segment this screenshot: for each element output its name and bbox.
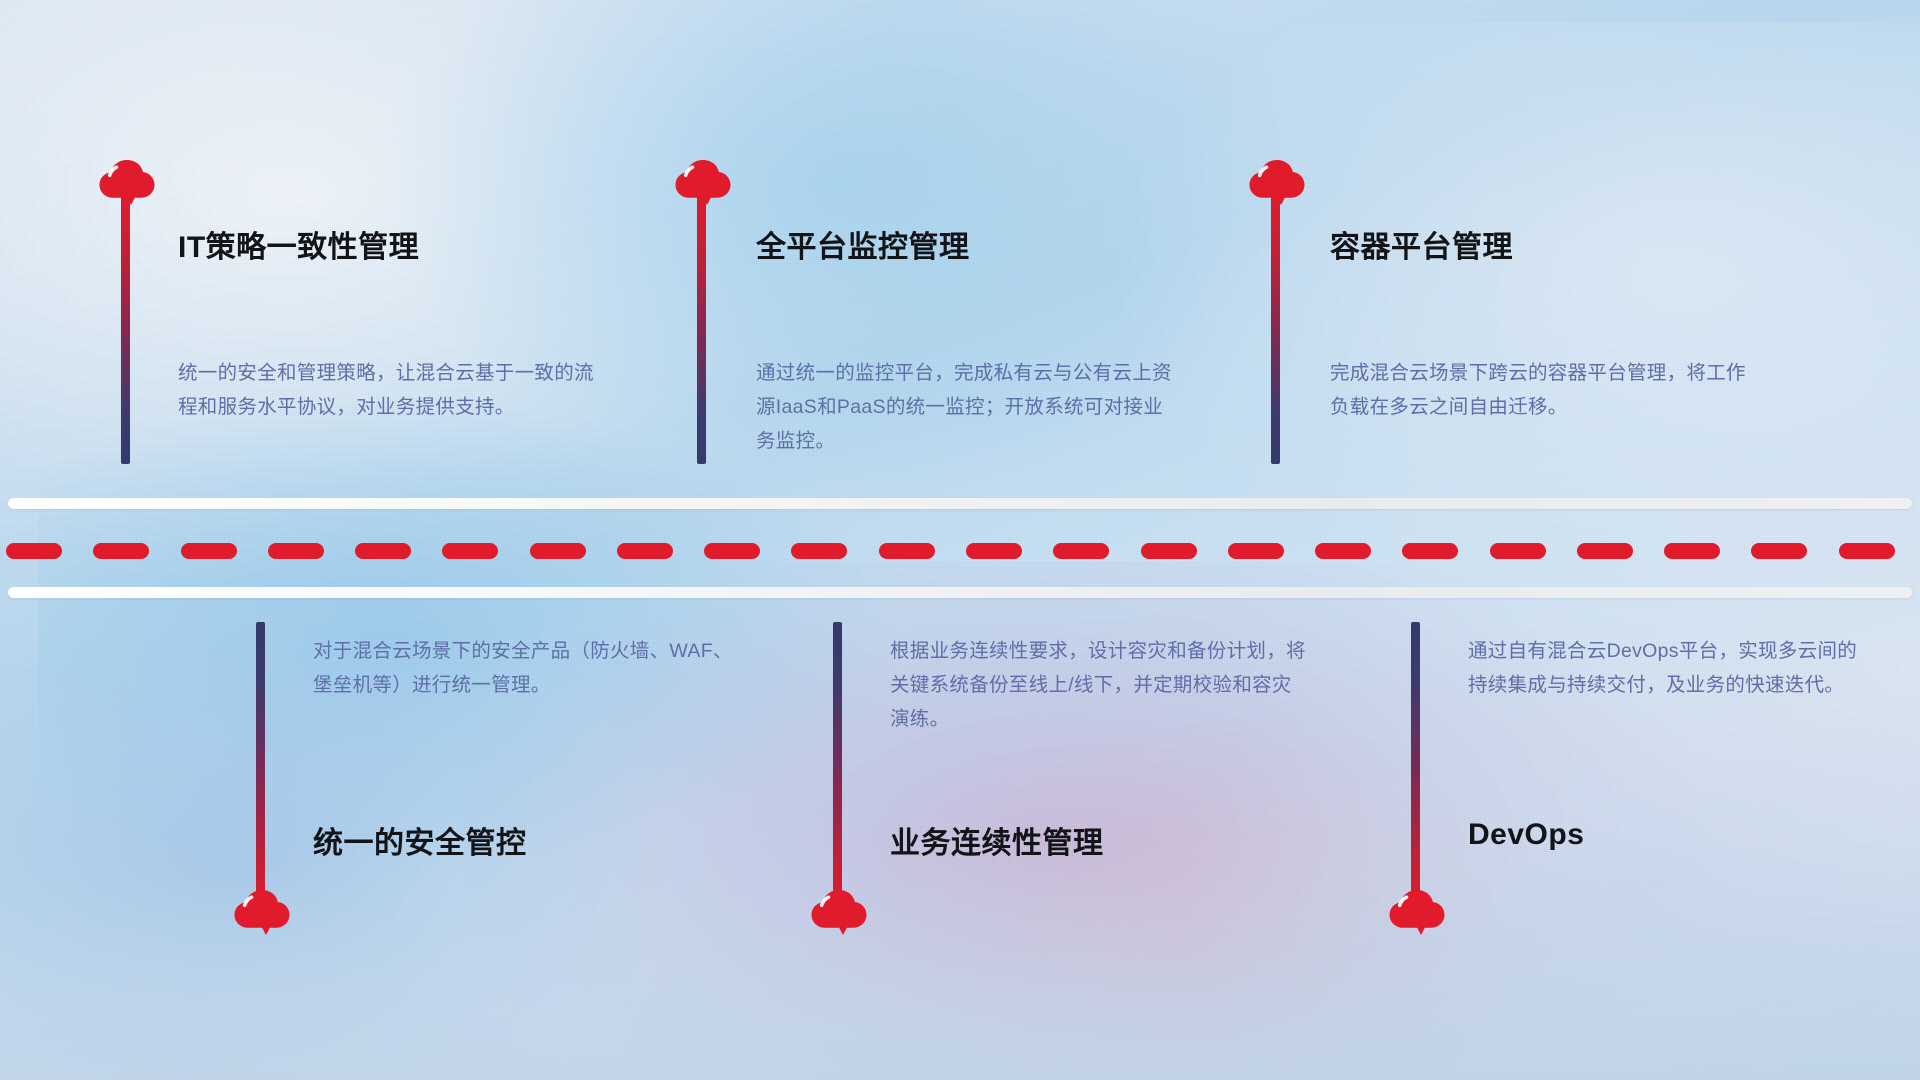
road-dash bbox=[1402, 543, 1458, 559]
card-title: 全平台监控管理 bbox=[756, 222, 970, 266]
road-dash bbox=[1839, 543, 1895, 559]
road-dash bbox=[1228, 543, 1284, 559]
road-dash bbox=[879, 543, 935, 559]
road-dash bbox=[1141, 543, 1197, 559]
road-dash bbox=[966, 543, 1022, 559]
pin-stem bbox=[833, 622, 842, 912]
road-rail-bottom bbox=[8, 587, 1912, 598]
card-title: DevOps bbox=[1468, 818, 1584, 852]
card-body: 统一的安全和管理策略，让混合云基于一致的流程和服务水平协议，对业务提供支持。 bbox=[178, 356, 598, 424]
card-title: IT策略一致性管理 bbox=[178, 222, 419, 266]
road-dash bbox=[1053, 543, 1109, 559]
road-dash bbox=[442, 543, 498, 559]
road-dash bbox=[530, 543, 586, 559]
road-dash bbox=[93, 543, 149, 559]
road-dash bbox=[181, 543, 237, 559]
pin-stem bbox=[697, 196, 706, 464]
road-dash-group bbox=[0, 543, 1920, 559]
road-dash bbox=[1577, 543, 1633, 559]
road-dash bbox=[268, 543, 324, 559]
road-dash bbox=[1490, 543, 1546, 559]
card-body: 对于混合云场景下的安全产品（防火墙、WAF、堡垒机等）进行统一管理。 bbox=[313, 634, 733, 702]
card-body: 根据业务连续性要求，设计容灾和备份计划，将关键系统备份至线上/线下，并定期校验和… bbox=[890, 634, 1310, 736]
pin-stem bbox=[1411, 622, 1420, 912]
pin-stem bbox=[256, 622, 265, 912]
card-body: 通过统一的监控平台，完成私有云与公有云上资源IaaS和PaaS的统一监控；开放系… bbox=[756, 356, 1176, 458]
road-dash bbox=[617, 543, 673, 559]
road-dash bbox=[6, 543, 62, 559]
road-rail-top bbox=[8, 498, 1912, 509]
cloud-pin-icon bbox=[808, 888, 870, 936]
card-body: 通过自有混合云DevOps平台，实现多云间的持续集成与持续交付，及业务的快速迭代… bbox=[1468, 634, 1868, 702]
card-title: 业务连续性管理 bbox=[890, 818, 1104, 862]
road-dash bbox=[1664, 543, 1720, 559]
card-title: 统一的安全管控 bbox=[313, 818, 527, 862]
road-dash bbox=[704, 543, 760, 559]
infographic-canvas: IT策略一致性管理 统一的安全和管理策略，让混合云基于一致的流程和服务水平协议，… bbox=[0, 0, 1920, 1080]
card-title: 容器平台管理 bbox=[1330, 222, 1513, 266]
road-dash bbox=[1751, 543, 1807, 559]
cloud-pin-icon bbox=[1386, 888, 1448, 936]
road-dash bbox=[355, 543, 411, 559]
cloud-pin-icon bbox=[231, 888, 293, 936]
pin-stem bbox=[121, 196, 130, 464]
road-divider bbox=[0, 498, 1920, 598]
card-body: 完成混合云场景下跨云的容器平台管理，将工作负载在多云之间自由迁移。 bbox=[1330, 356, 1750, 424]
road-dash bbox=[1315, 543, 1371, 559]
pin-stem bbox=[1271, 196, 1280, 464]
road-dash bbox=[791, 543, 847, 559]
